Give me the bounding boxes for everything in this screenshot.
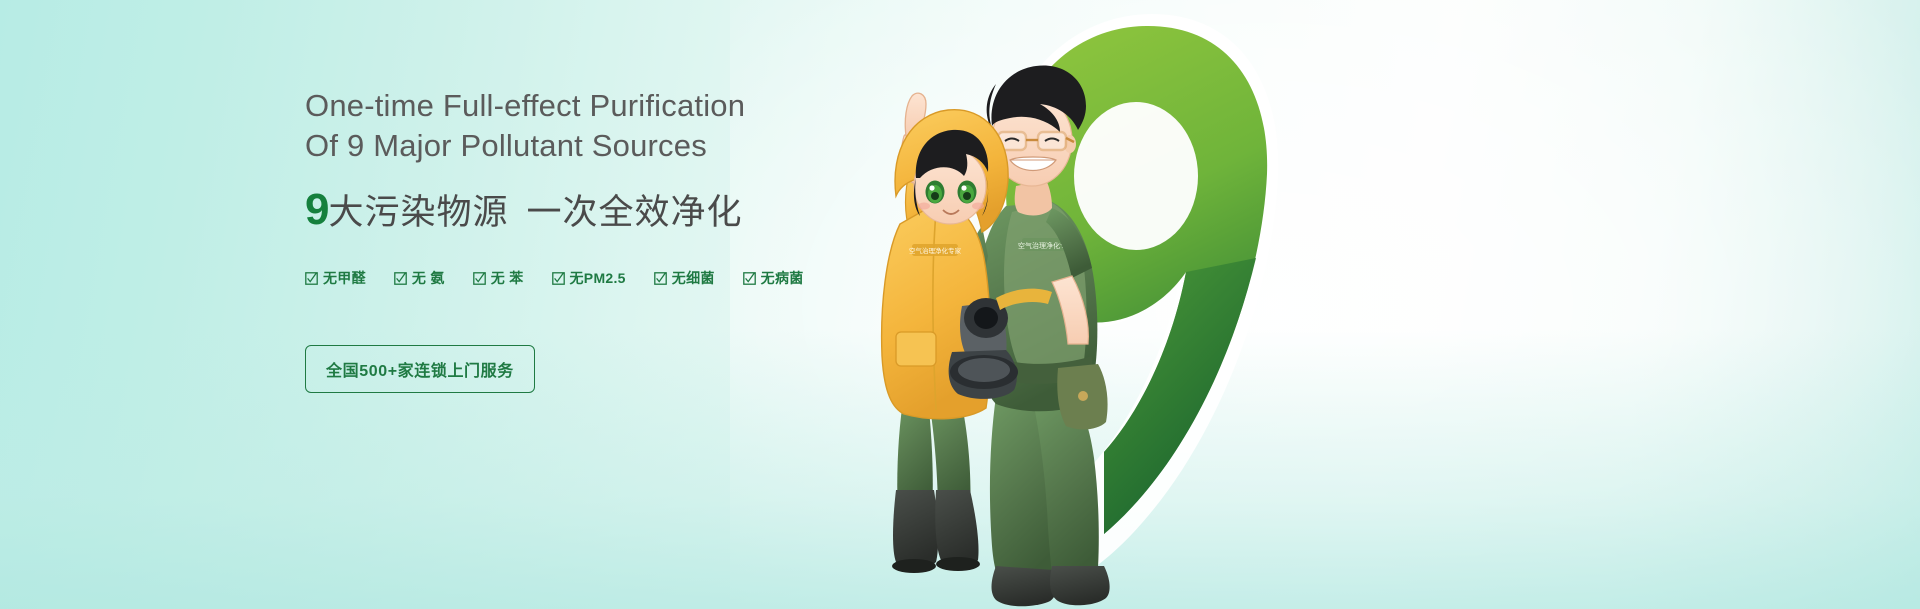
headline-chinese: 9 大污染物源 一次全效净化 <box>305 188 925 232</box>
headline-chinese-tail: 一次全效净化 <box>527 195 743 230</box>
headline-english-line-2: Of 9 Major Pollutant Sources <box>305 126 925 166</box>
feature-badge-label: 无病菌 <box>761 268 804 288</box>
headline-chinese-numeral: 9 <box>305 188 328 232</box>
feature-badge: 无 氨 <box>394 268 445 288</box>
checkbox-tick-icon <box>305 272 318 285</box>
checkbox-tick-icon <box>394 272 407 285</box>
feature-badge-label: 无PM2.5 <box>570 268 626 288</box>
feature-badge-label: 无 氨 <box>412 268 445 288</box>
feature-badge-list: 无甲醛 无 氨 无 苯 <box>305 268 925 288</box>
feature-badge: 无 苯 <box>473 268 524 288</box>
nationwide-service-cta-button[interactable]: 全国500+家连锁上门服务 <box>305 345 535 393</box>
promo-banner: 空气治理净化专家 <box>0 0 1920 609</box>
feature-badge: 无PM2.5 <box>552 268 626 288</box>
feature-badge-label: 无甲醛 <box>323 268 366 288</box>
feature-badge-label: 无细菌 <box>672 268 715 288</box>
child-boot-right <box>935 490 978 569</box>
headline-english-line-1: One-time Full-effect Purification <box>305 86 925 126</box>
checkbox-tick-icon <box>473 272 486 285</box>
child-coat-pocket <box>896 332 936 366</box>
feature-badge-label: 无 苯 <box>491 268 524 288</box>
headline-chinese-main: 大污染物源 <box>328 195 508 230</box>
child-boot-left <box>893 490 938 569</box>
headline-english: One-time Full-effect Purification Of 9 M… <box>305 86 925 166</box>
banner-copy: One-time Full-effect Purification Of 9 M… <box>305 86 925 288</box>
checkbox-tick-icon <box>654 272 667 285</box>
feature-badge: 无病菌 <box>743 268 804 288</box>
checkbox-tick-icon <box>743 272 756 285</box>
checkbox-tick-icon <box>552 272 565 285</box>
feature-badge: 无细菌 <box>654 268 715 288</box>
feature-badge: 无甲醛 <box>305 268 366 288</box>
